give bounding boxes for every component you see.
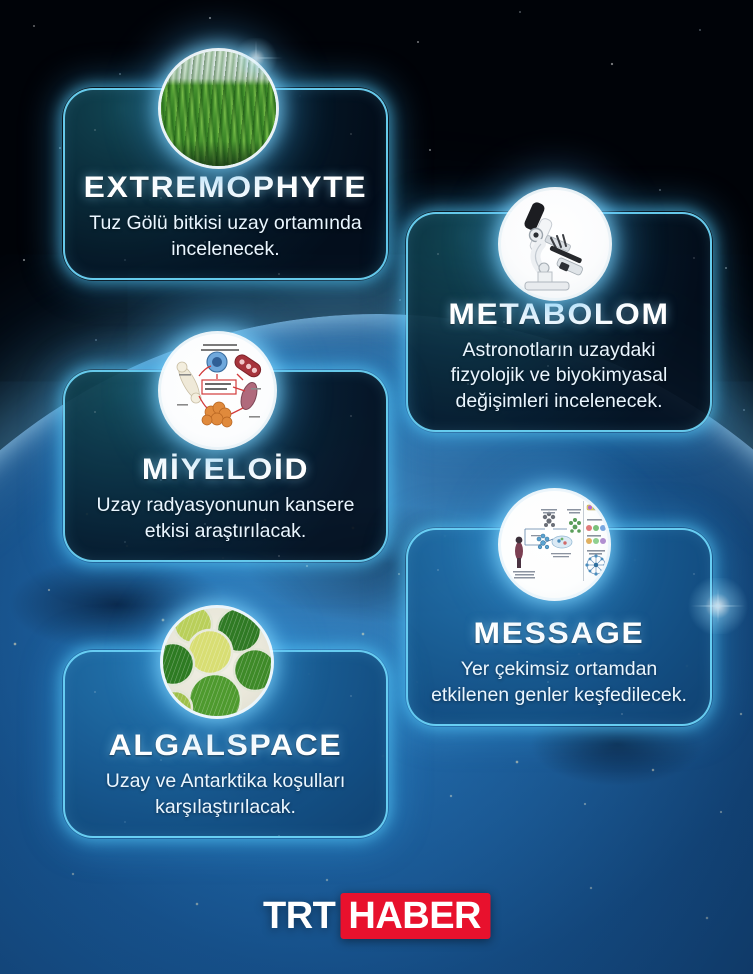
card-algalspace-title: ALGALSPACE (74, 730, 376, 762)
card-miyeloid-description: Uzay radyasyonunun kansere etkisi araştı… (83, 493, 368, 544)
genomics-workflow-diagram (501, 491, 608, 598)
algae-petri-dish-photo-content (163, 608, 271, 716)
card-algalspace-body: ALGALSPACE Uzay ve Antarktika koşulları … (65, 730, 386, 836)
trt-haber-logo: TRT HABER (263, 893, 490, 939)
genomics-workflow-diagram-content (501, 491, 608, 598)
genomics-workflow-icon (501, 491, 608, 598)
card-miyeloid-title: MİYELOİD (74, 454, 376, 486)
card-message-description: Yer çekimsiz ortamdan etkilenen genler k… (426, 657, 692, 708)
card-metabolom-title: METABOLOM (418, 299, 700, 331)
card-message-title: MESSAGE (418, 618, 700, 650)
card-extremophyte-body: EXTREMOPHYTE Tuz Gölü bitkisi uzay ortam… (65, 172, 386, 278)
card-miyeloid-body: MİYELOİD Uzay radyasyonunun kansere etki… (65, 454, 386, 560)
myeloid-cell-diagram (161, 334, 274, 447)
card-metabolom-description: Astronotların uzaydaki fizyolojik ve biy… (426, 338, 692, 414)
card-algalspace-description: Uzay ve Antarktika koşulları karşılaştır… (83, 769, 368, 820)
myeloid-diagram-icon (161, 334, 274, 447)
logo-haber-badge: HABER (340, 893, 490, 939)
card-message-body: MESSAGE Yer çekimsiz ortamdan etkilenen … (408, 618, 710, 724)
microscope-photo (501, 190, 609, 298)
card-extremophyte-description: Tuz Gölü bitkisi uzay ortamında incelene… (83, 211, 368, 262)
logo-trt-text: TRT (263, 893, 340, 939)
card-metabolom-body: METABOLOM Astronotların uzaydaki fizyolo… (408, 299, 710, 430)
infographic-poster: EXTREMOPHYTE Tuz Gölü bitkisi uzay ortam… (0, 0, 753, 974)
algae-petri-dish-photo (163, 608, 271, 716)
grass-plant-photo (161, 51, 276, 166)
microscope-photo-content (501, 190, 609, 298)
microscope-icon (501, 190, 609, 298)
myeloid-cell-diagram-content (161, 334, 274, 447)
petri-dish-icon (163, 608, 271, 716)
grass-plant-photo-content (161, 51, 276, 166)
card-extremophyte-title: EXTREMOPHYTE (74, 172, 376, 204)
